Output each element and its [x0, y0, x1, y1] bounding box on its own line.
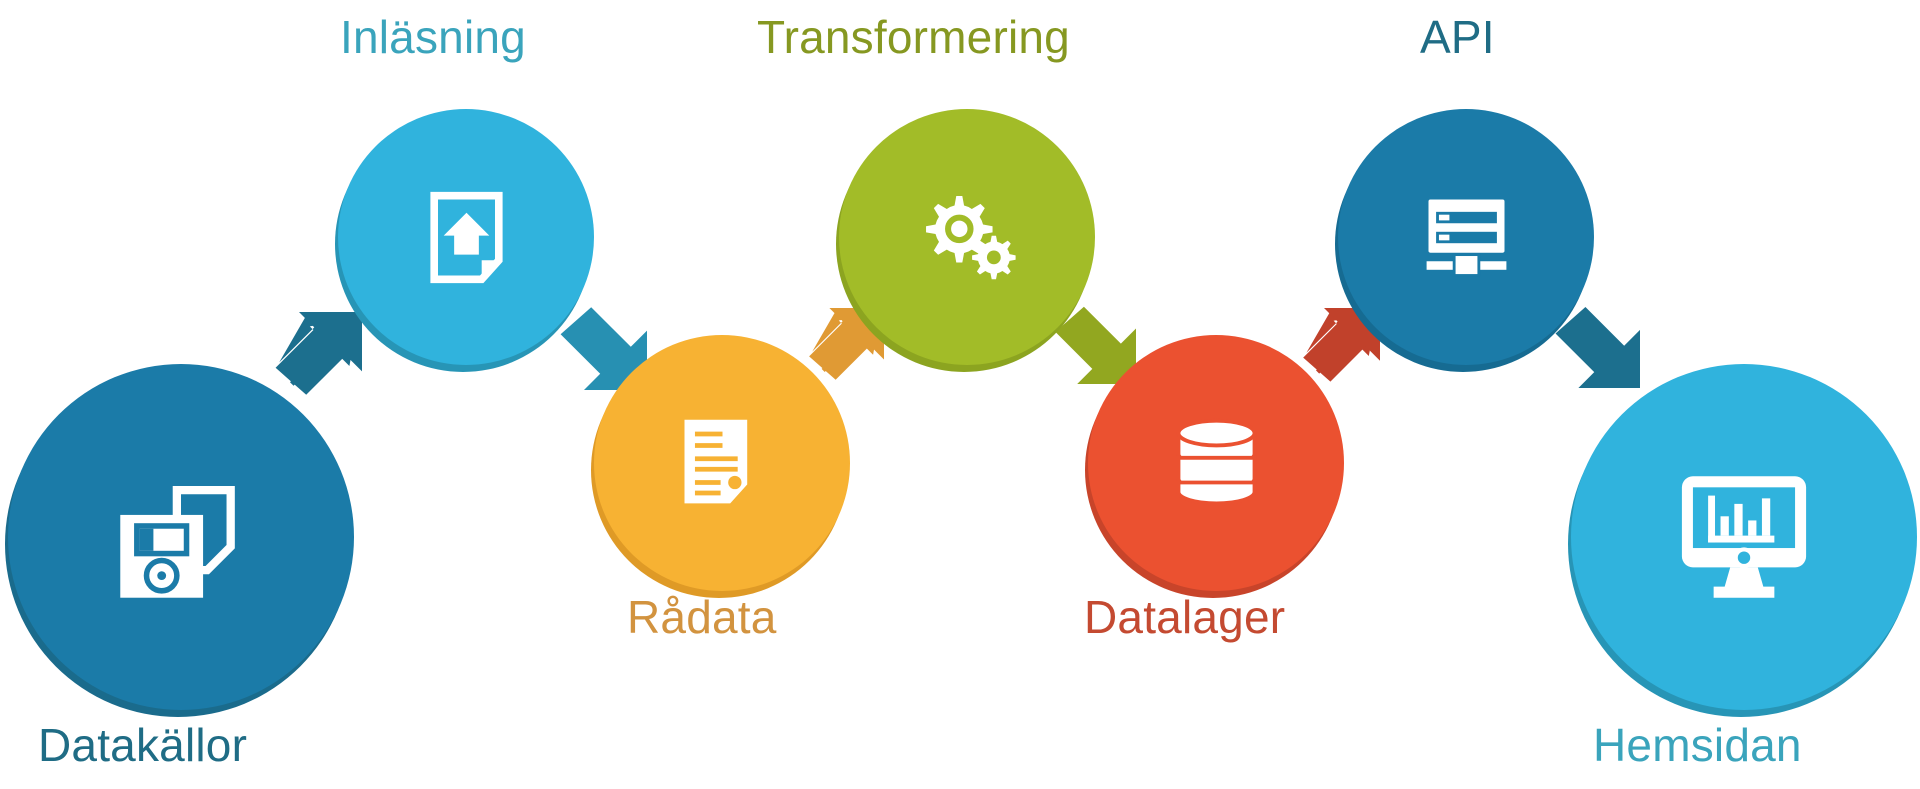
database-icon [1169, 416, 1264, 511]
circle-radata[interactable] [594, 335, 850, 591]
document-lines-icon [675, 416, 770, 511]
label-hemsidan: Hemsidan [1593, 718, 1802, 772]
circle-hemsidan[interactable] [1571, 364, 1917, 710]
label-inlasning: Inläsning [340, 10, 526, 64]
label-radata: Rådata [627, 590, 777, 644]
label-transformering: Transformering [757, 10, 1070, 64]
monitor-chart-icon [1675, 468, 1813, 606]
circle-inlasning[interactable] [338, 109, 594, 365]
circle-face [338, 109, 594, 365]
circle-api[interactable] [1338, 109, 1594, 365]
circle-datakallor[interactable] [8, 364, 354, 710]
circle-datalager[interactable] [1088, 335, 1344, 591]
circle-face [1338, 109, 1594, 365]
label-api: API [1420, 10, 1495, 64]
circle-face [839, 109, 1095, 365]
circle-face [1088, 335, 1344, 591]
floppy-disk-icon [112, 468, 250, 606]
label-datalager: Datalager [1084, 590, 1285, 644]
circle-face [594, 335, 850, 591]
circle-face [8, 364, 354, 710]
arrow-datakallor-to-inlasning [272, 312, 362, 402]
label-datakallor: Datakällor [38, 718, 247, 772]
gears-icon [920, 190, 1015, 285]
pipeline-diagram: Datakällor Inläsning Rådata [0, 0, 1920, 789]
circle-face [1571, 364, 1917, 710]
server-rack-icon [1419, 190, 1514, 285]
document-upload-icon [419, 190, 514, 285]
circle-transformering[interactable] [839, 109, 1095, 365]
